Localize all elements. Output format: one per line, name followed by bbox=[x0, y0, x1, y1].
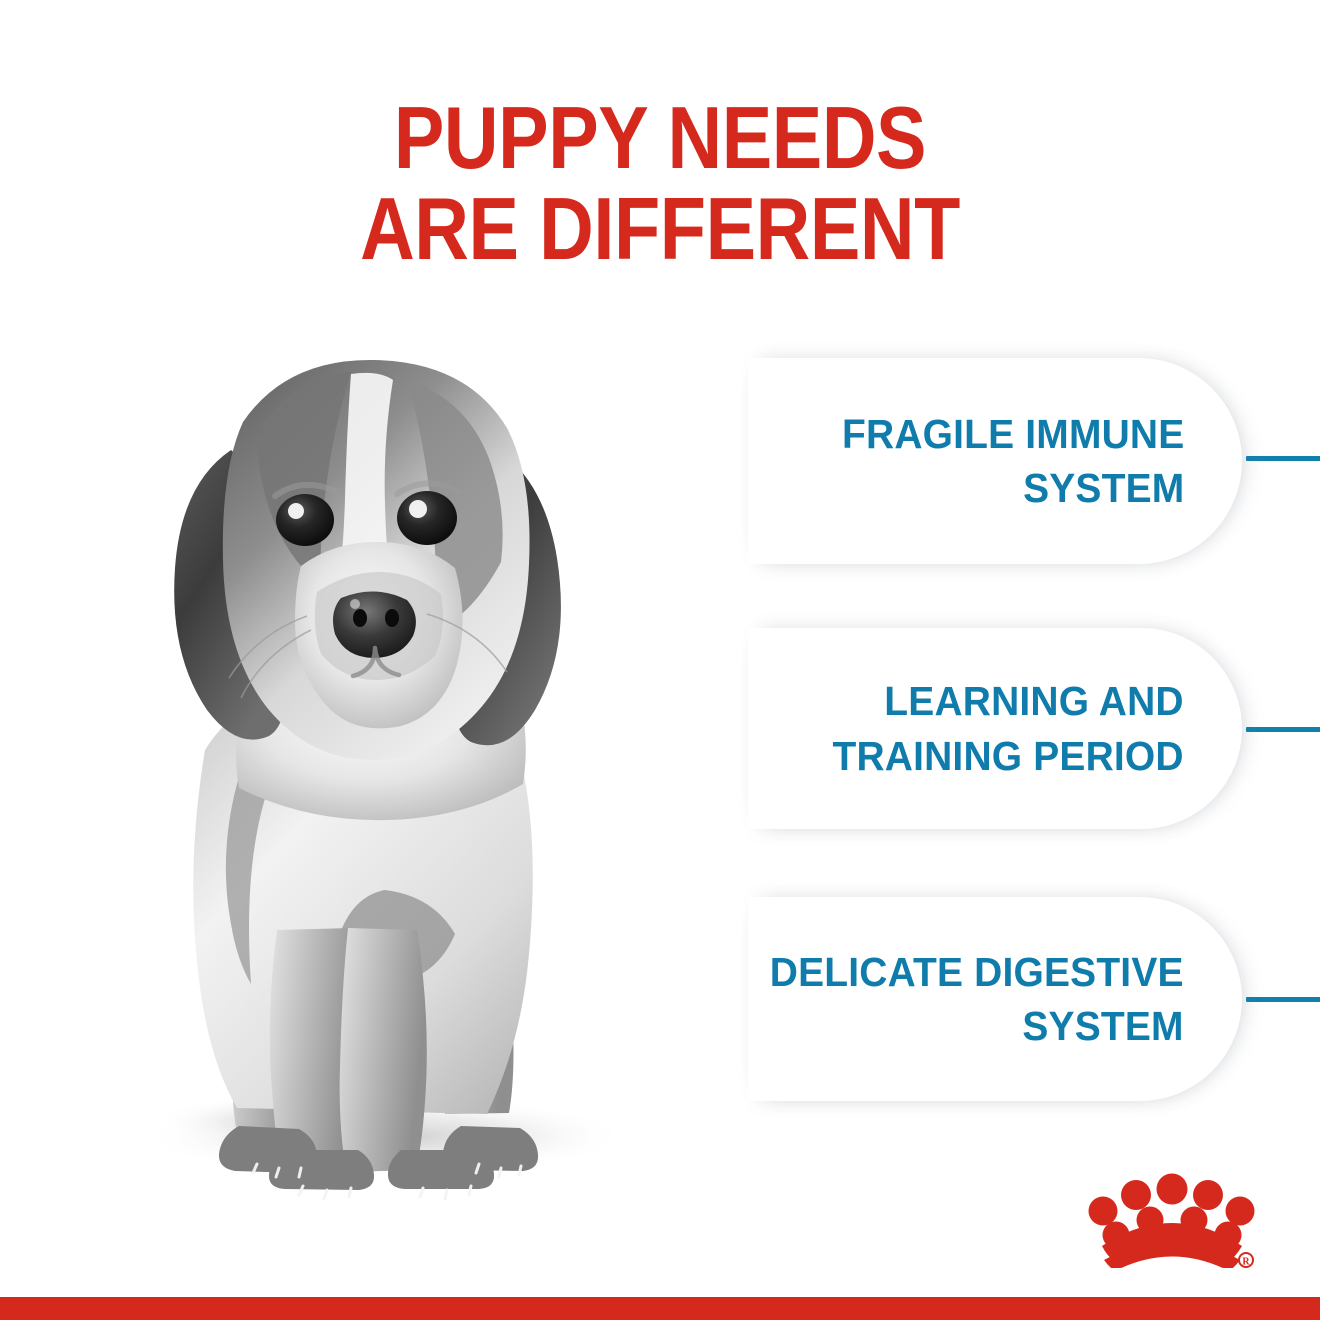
poster-canvas: PUPPY NEEDSARE DIFFERENT bbox=[0, 0, 1320, 1320]
benefit-label-line-1: FRAGILE IMMUNE bbox=[842, 411, 1184, 457]
benefit-label-line-2: SYSTEM bbox=[1023, 465, 1184, 511]
page-title: PUPPY NEEDSARE DIFFERENT bbox=[92, 93, 1227, 274]
benefit-card-label: FRAGILE IMMUNESYSTEM bbox=[842, 407, 1184, 515]
connector-line-1 bbox=[1246, 456, 1320, 461]
connector-line-2 bbox=[1246, 727, 1320, 732]
registered-trademark-icon: R bbox=[1239, 1253, 1253, 1268]
svg-text:R: R bbox=[1242, 1257, 1250, 1268]
royal-canin-crown-logo: R bbox=[1088, 1168, 1256, 1268]
footer-accent-bar bbox=[0, 1297, 1320, 1320]
benefit-label-line-2: SYSTEM bbox=[1023, 1003, 1184, 1049]
puppy-photo bbox=[55, 330, 725, 1200]
benefit-card-delicate-digestive-system[interactable]: DELICATE DIGESTIVESYSTEM bbox=[748, 897, 1242, 1101]
page-title-line-2: ARE DIFFERENT bbox=[92, 184, 1227, 275]
benefit-card-label: LEARNING ANDTRAINING PERIOD bbox=[833, 674, 1184, 782]
benefit-label-line-1: LEARNING AND bbox=[885, 678, 1184, 724]
benefit-label-line-1: DELICATE DIGESTIVE bbox=[770, 949, 1184, 995]
benefit-card-fragile-immune-system[interactable]: FRAGILE IMMUNESYSTEM bbox=[748, 358, 1242, 564]
page-title-line-1: PUPPY NEEDS bbox=[394, 88, 926, 187]
connector-line-3 bbox=[1246, 997, 1320, 1002]
benefit-card-label: DELICATE DIGESTIVESYSTEM bbox=[770, 945, 1184, 1053]
benefit-card-learning-and-training-period[interactable]: LEARNING ANDTRAINING PERIOD bbox=[748, 628, 1242, 829]
benefit-label-line-2: TRAINING PERIOD bbox=[833, 733, 1184, 779]
